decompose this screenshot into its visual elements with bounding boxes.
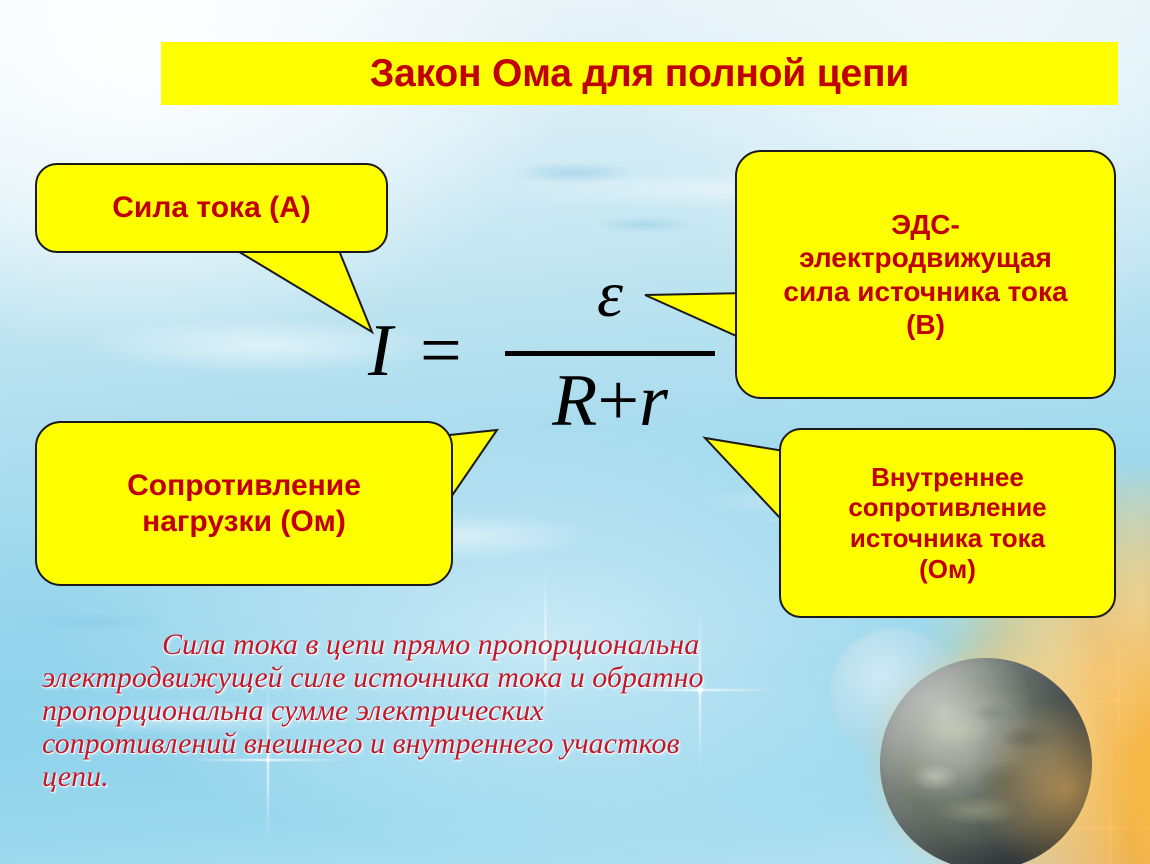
callout-internal-resistance-label: Внутреннее сопротивление источника тока … (834, 462, 1060, 585)
formula-numerator-emf: ε (505, 262, 715, 328)
formula-equals-sign: = (420, 314, 462, 388)
callout-load-resistance[interactable]: Сопротивление нагрузки (Ом) (35, 421, 453, 586)
formula-fraction-bar (505, 351, 715, 356)
callout-emf-line-2: электродвижущая (783, 241, 1067, 274)
formula-load-resistance: R (552, 360, 597, 442)
callout-internal-line-3: источника тока (848, 523, 1046, 554)
formula-denominator: R+r (505, 364, 715, 438)
slide-canvas: Закон Ома для полной цепи I = ε R+r Сила… (0, 0, 1150, 864)
formula-internal-resistance: r (639, 360, 668, 442)
callout-emf-label: ЭДС- электродвижущая сила источника тока… (769, 208, 1081, 340)
callout-current-label: Сила тока (А) (98, 190, 325, 225)
callout-emf-line-3: сила источника тока (783, 275, 1067, 308)
callout-emf-line-4: (В) (783, 308, 1067, 341)
callout-load-line-2: нагрузки (Ом) (127, 504, 361, 539)
rocky-planet (880, 658, 1092, 864)
callout-internal-line-1: Внутреннее (848, 462, 1046, 493)
callout-emf-line-1: ЭДС- (783, 208, 1067, 241)
callout-current[interactable]: Сила тока (А) (35, 163, 388, 253)
callout-emf[interactable]: ЭДС- электродвижущая сила источника тока… (735, 150, 1116, 399)
callout-load-resistance-label: Сопротивление нагрузки (Ом) (113, 468, 375, 539)
formula-current-symbol: I (368, 314, 393, 388)
formula-plus-sign: + (597, 360, 639, 442)
callout-load-line-1: Сопротивление (127, 468, 361, 503)
page-title: Закон Ома для полной цепи (370, 54, 909, 93)
statement-paragraph: Сила тока в цепи прямо пропорциональна э… (42, 628, 732, 793)
callout-internal-line-2: сопротивление (848, 492, 1046, 523)
callout-internal-resistance[interactable]: Внутреннее сопротивление источника тока … (779, 428, 1116, 618)
callout-internal-line-4: (Ом) (848, 554, 1046, 585)
title-banner: Закон Ома для полной цепи (161, 42, 1118, 105)
